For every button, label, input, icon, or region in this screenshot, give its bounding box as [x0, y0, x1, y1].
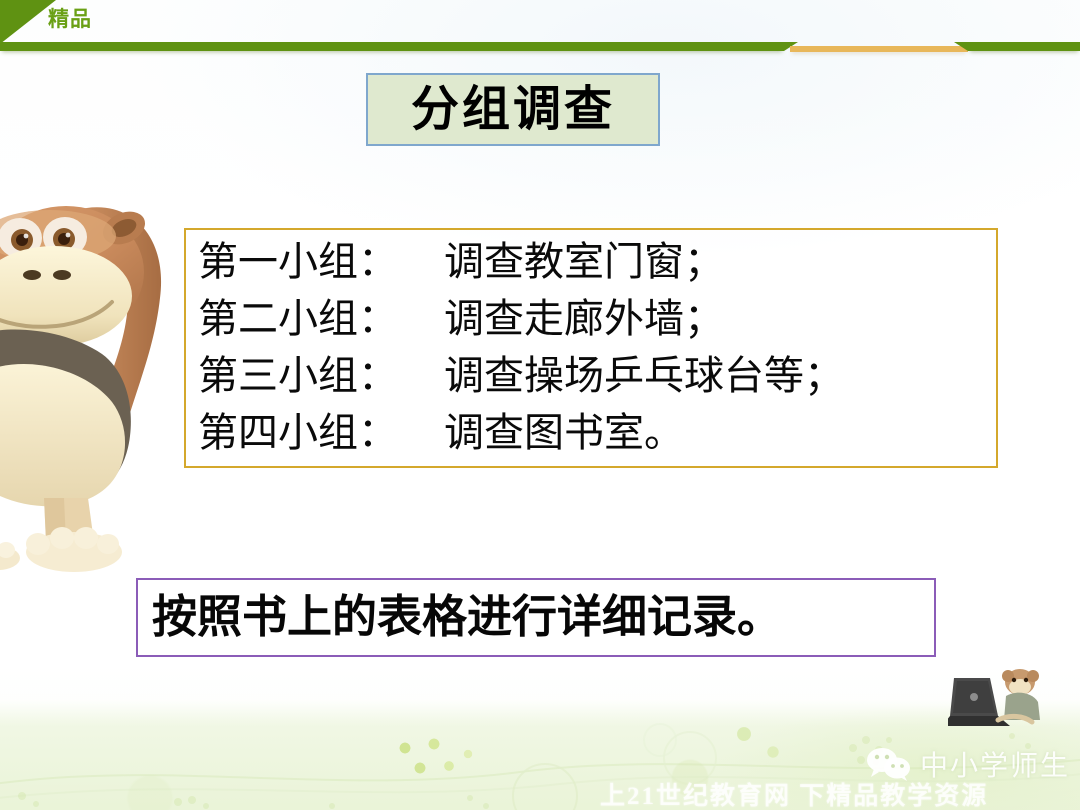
background-swirl-decoration	[0, 700, 1080, 810]
group-label: 第三小组：	[198, 347, 444, 404]
watermark-brand-text: 中小学师生	[920, 744, 1070, 784]
group-label: 第二小组：	[198, 290, 444, 347]
header-bar-accent	[790, 46, 968, 52]
slide-canvas: 精品 分组调查	[0, 0, 1080, 810]
group-task: 调查操场乒乓球台等；	[444, 353, 844, 398]
group-task: 调查图书室。	[444, 410, 684, 455]
list-item: 第四小组：调查图书室。	[198, 404, 988, 461]
list-item: 第三小组：调查操场乒乓球台等；	[198, 347, 988, 404]
group-label: 第四小组：	[198, 404, 444, 461]
watermark-brand: 中小学师生	[866, 744, 1070, 784]
wechat-icon	[866, 747, 912, 781]
list-item: 第二小组：调查走廊外墙；	[198, 290, 988, 347]
header-bar-right	[968, 42, 1080, 51]
header-bar-left	[0, 42, 784, 51]
page-title: 分组调查	[411, 86, 615, 134]
title-box: 分组调查	[366, 73, 660, 146]
header-label: 精品	[48, 4, 92, 36]
list-item: 第一小组：调查教室门窗；	[198, 233, 988, 290]
monkey-laptop-icon	[948, 660, 1052, 730]
note-box: 按照书上的表格进行详细记录。	[136, 578, 936, 657]
group-task: 调查走廊外墙；	[444, 296, 724, 341]
watermark-center-text: 上21世纪教育网 下精品教学资源	[600, 776, 988, 810]
group-label: 第一小组：	[198, 233, 444, 290]
background-dots-decoration	[0, 700, 1080, 810]
bottom-decoration-band	[0, 700, 1080, 810]
note-text: 按照书上的表格进行详细记录。	[138, 595, 782, 640]
group-task: 调查教室门窗；	[444, 239, 724, 284]
group-task-list: 第一小组：调查教室门窗； 第二小组：调查走廊外墙； 第三小组：调查操场乒乓球台等…	[198, 233, 988, 461]
monkey-character-icon	[0, 186, 184, 582]
header-band	[0, 0, 1080, 58]
